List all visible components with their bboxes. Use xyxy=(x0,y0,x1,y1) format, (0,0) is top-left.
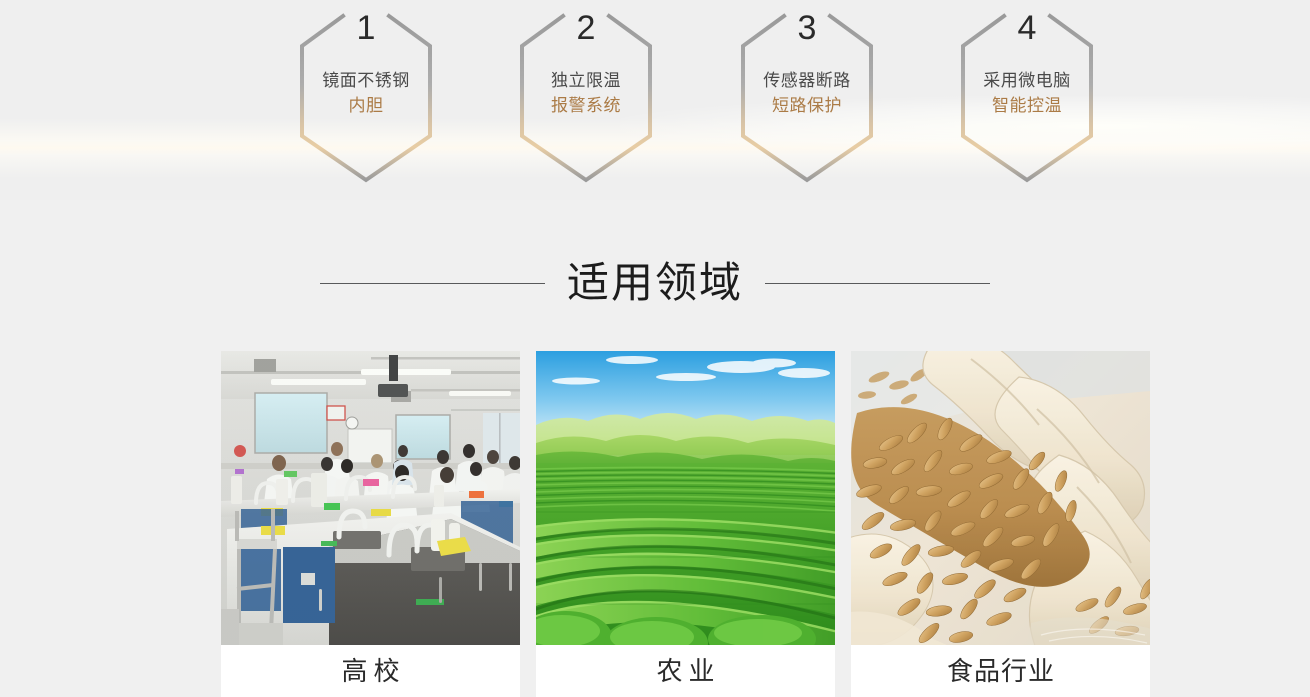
tea-plantation-field-photo xyxy=(536,351,835,645)
tea-field-illustration xyxy=(536,351,835,645)
feature-text: 独立限温 报警系统 xyxy=(506,68,666,118)
card-caption: 农业 xyxy=(536,645,835,697)
feature-line-1: 传感器断路 xyxy=(727,68,887,93)
feature-line-2: 智能控温 xyxy=(947,93,1107,118)
feature-text: 采用微电脑 智能控温 xyxy=(947,68,1107,118)
application-card-food-industry[interactable]: 食品行业 xyxy=(851,351,1150,697)
feature-text: 镜面不锈钢 内胆 xyxy=(286,68,446,118)
feature-line-2: 报警系统 xyxy=(506,93,666,118)
laboratory-illustration xyxy=(221,351,520,645)
application-card-agriculture[interactable]: 农业 xyxy=(536,351,835,697)
university-laboratory-photo xyxy=(221,351,520,645)
feature-number: 2 xyxy=(506,11,666,45)
feature-number: 3 xyxy=(727,11,887,45)
application-cards-row: 高校 xyxy=(221,351,1151,697)
feature-line-2: 内胆 xyxy=(286,93,446,118)
title-rule-left xyxy=(320,283,545,284)
feature-number: 1 xyxy=(286,11,446,45)
page-title: 适用领域 xyxy=(567,255,743,311)
feature-line-1: 独立限温 xyxy=(506,68,666,93)
feature-number: 4 xyxy=(947,11,1107,45)
feature-item-1[interactable]: 1 镜面不锈钢 内胆 xyxy=(286,0,446,195)
feature-hexagon-row: 1 镜面不锈钢 内胆 xyxy=(0,0,1310,200)
feature-item-3[interactable]: 3 传感器断路 短路保护 xyxy=(727,0,887,195)
applications-section-header: 适用领域 xyxy=(0,243,1310,323)
features-band: 1 镜面不锈钢 内胆 xyxy=(0,0,1310,200)
card-caption: 食品行业 xyxy=(851,645,1150,697)
grain-in-gloved-hand-photo xyxy=(851,351,1150,645)
feature-item-2[interactable]: 2 独立限温 报警系统 xyxy=(506,0,666,195)
card-caption: 高校 xyxy=(221,645,520,697)
feature-line-1: 镜面不锈钢 xyxy=(286,68,446,93)
feature-item-4[interactable]: 4 采用微电脑 智能控温 xyxy=(947,0,1107,195)
feature-line-1: 采用微电脑 xyxy=(947,68,1107,93)
grain-illustration xyxy=(851,351,1150,645)
feature-line-2: 短路保护 xyxy=(727,93,887,118)
feature-text: 传感器断路 短路保护 xyxy=(727,68,887,118)
application-card-university[interactable]: 高校 xyxy=(221,351,520,697)
title-rule-right xyxy=(765,283,990,284)
